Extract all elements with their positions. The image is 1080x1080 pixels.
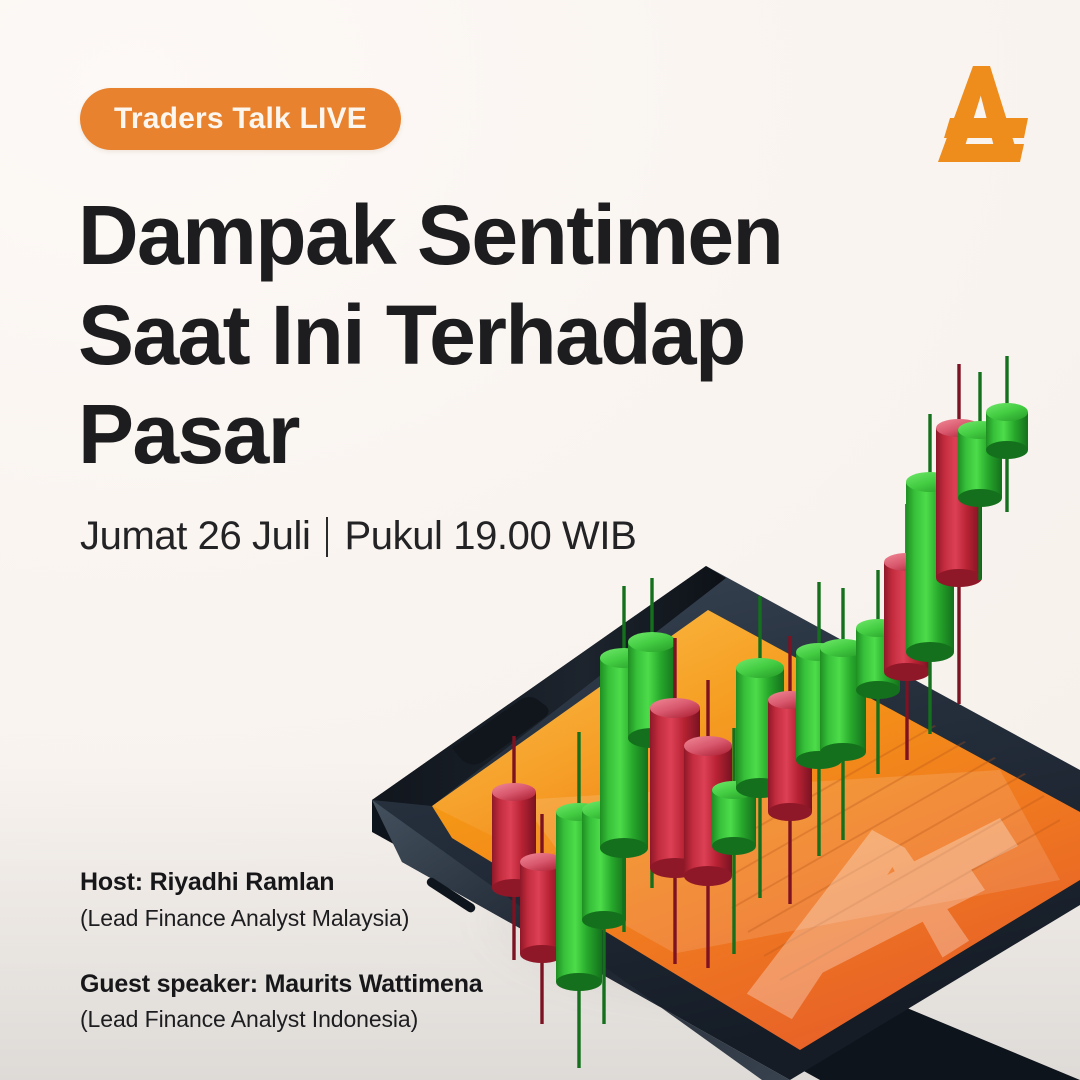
promo-poster: Traders Talk LIVE Dampak Sentimen Saat I… [0, 0, 1080, 1080]
guest-name: Guest speaker: Maurits Wattimena [80, 968, 550, 1001]
guest-role: (Lead Finance Analyst Indonesia) [80, 1004, 550, 1035]
guest-credit: Guest speaker: Maurits Wattimena (Lead F… [80, 968, 550, 1036]
host-name: Host: Riyadhi Ramlan [80, 866, 550, 899]
host-role: (Lead Finance Analyst Malaysia) [80, 903, 550, 934]
speakers-block: Host: Riyadhi Ramlan (Lead Finance Analy… [80, 866, 550, 1035]
host-credit: Host: Riyadhi Ramlan (Lead Finance Analy… [80, 866, 550, 934]
